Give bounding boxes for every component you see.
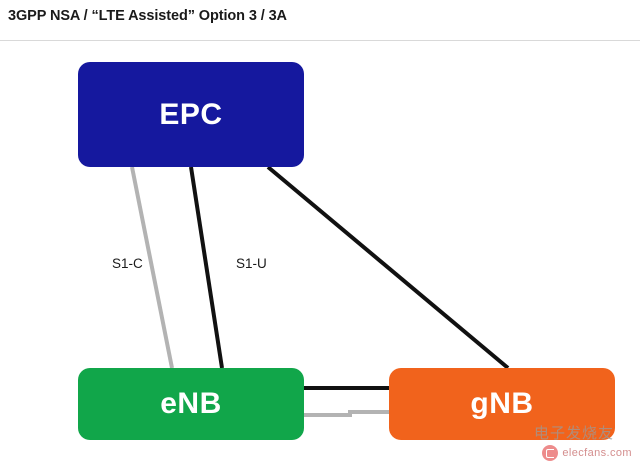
edge-epc-enb-s1u <box>191 167 222 368</box>
edge-epc-gnb <box>268 167 508 368</box>
edge-enb-gnb-ctrl <box>304 412 389 415</box>
watermark-chinese: 电子发烧友 <box>534 422 614 443</box>
node-epc[interactable]: EPC <box>78 62 304 167</box>
watermark: elecfans.com <box>542 445 632 461</box>
watermark-text: elecfans.com <box>562 447 632 459</box>
diagram-canvas: 3GPP NSA / “LTE Assisted” Option 3 / 3A … <box>0 0 640 467</box>
edge-label-s1u: S1-U <box>236 256 267 271</box>
node-gnb-label: gNB <box>470 387 533 421</box>
node-enb[interactable]: eNB <box>78 368 304 440</box>
elecfans-logo-icon <box>542 445 558 461</box>
edge-label-s1c: S1-C <box>112 256 143 271</box>
node-epc-label: EPC <box>159 98 222 132</box>
node-enb-label: eNB <box>160 387 222 421</box>
